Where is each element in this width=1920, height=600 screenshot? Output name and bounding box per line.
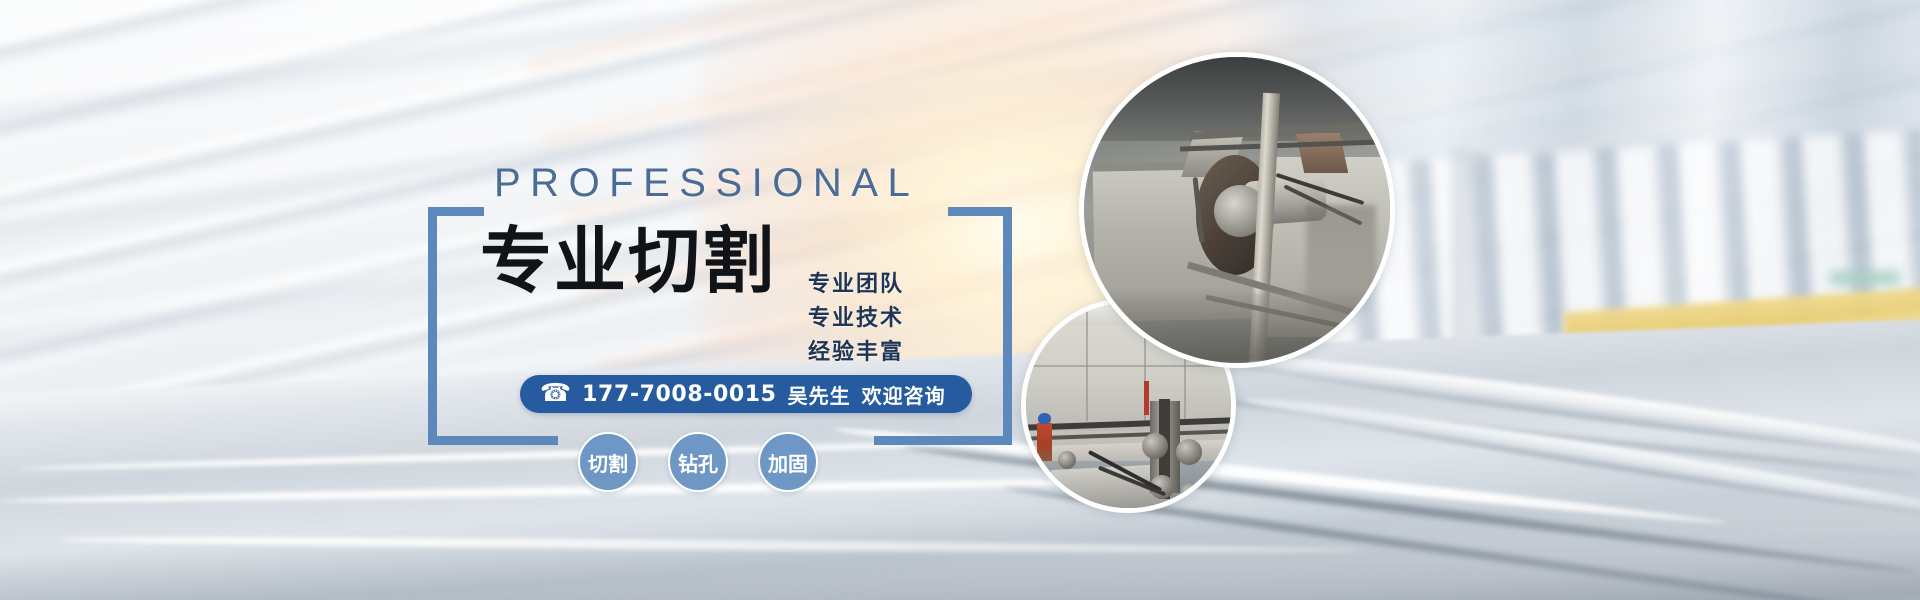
service-badge-cutting[interactable]: 切割: [578, 432, 638, 492]
contact-name: 吴先生: [788, 380, 851, 409]
service-badge-drilling[interactable]: 钻孔: [668, 432, 728, 492]
chinese-headline: 专业切割: [480, 222, 776, 300]
background-green-sign: [1830, 270, 1900, 286]
concrete-cutting-machine-photo: [1079, 52, 1395, 368]
telephone-icon: ☎: [540, 381, 571, 406]
promo-banner: PROFESSIONAL 专业切割 专业团队 专业技术 经验丰富 ☎ 177-7…: [0, 0, 1920, 600]
contact-pill[interactable]: ☎ 177-7008-0015 吴先生 欢迎咨询: [520, 375, 972, 413]
contact-cta: 欢迎咨询: [862, 380, 946, 409]
feature-list: 专业团队 专业技术 经验丰富: [808, 270, 904, 368]
phone-number: 177-7008-0015: [582, 382, 776, 407]
service-badge-row: 切割 钻孔 加固: [578, 432, 818, 492]
feature-item-technique: 专业技术: [808, 304, 904, 334]
english-headline: PROFESSIONAL: [494, 161, 919, 206]
feature-item-team: 专业团队: [808, 270, 904, 300]
feature-item-experience: 经验丰富: [808, 338, 904, 368]
service-badge-reinforce[interactable]: 加固: [758, 432, 818, 492]
background-image: [0, 0, 1920, 600]
